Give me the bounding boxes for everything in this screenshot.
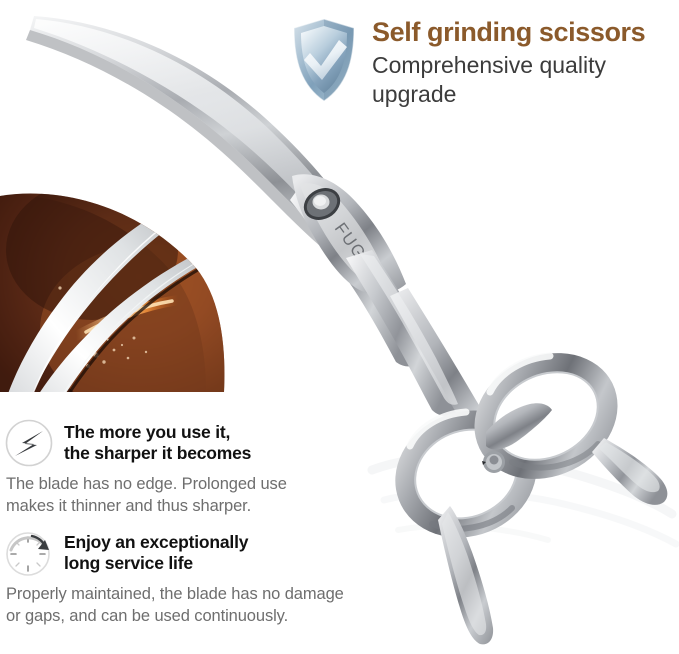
feature-heading: Enjoy an exceptionally long service life bbox=[4, 528, 394, 578]
blade-closeup-inset bbox=[0, 180, 260, 434]
shank-highlight bbox=[360, 254, 458, 405]
feature-heading: The more you use it, the sharper it beco… bbox=[4, 418, 394, 468]
feature-description: Properly maintained, the blade has no da… bbox=[6, 584, 394, 628]
product-marketing-image: FUGOSP bbox=[0, 0, 679, 654]
feature-description: The blade has no edge. Prolonged use mak… bbox=[6, 474, 394, 518]
header-text: Self grinding scissors Comprehensive qua… bbox=[372, 14, 670, 110]
feature-title: The more you use it, the sharper it beco… bbox=[64, 422, 251, 465]
feature-block-longevity: Enjoy an exceptionally long service life… bbox=[4, 528, 394, 628]
feature-title: Enjoy an exceptionally long service life bbox=[64, 532, 248, 575]
clock-arrow-icon bbox=[4, 528, 54, 578]
shield-check-icon bbox=[290, 16, 358, 104]
feature-block-sharpness: The more you use it, the sharper it beco… bbox=[4, 418, 394, 518]
page-title: Self grinding scissors bbox=[372, 18, 670, 48]
page-subtitle: Comprehensive quality upgrade bbox=[372, 51, 670, 110]
lightning-bolt-icon bbox=[4, 418, 54, 468]
header: Self grinding scissors Comprehensive qua… bbox=[290, 14, 670, 110]
